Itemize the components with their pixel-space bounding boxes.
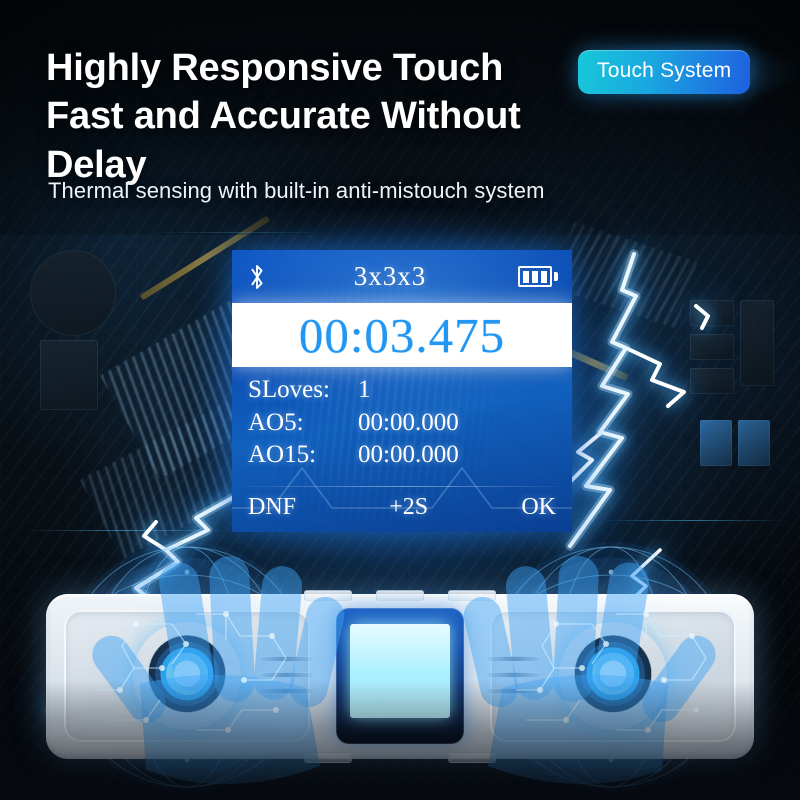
page-title: Highly Responsive Touch Fast and Accurat… [46,44,606,189]
stats-value: 1 [358,374,560,407]
device-clip [376,590,424,601]
stats-label: AO15: [248,439,358,472]
headline-line-2: Fast and Accurate Without Delay [46,92,606,189]
battery-segment [523,271,529,283]
battery-segment [532,271,538,283]
promo-banner: Highly Responsive Touch Fast and Accurat… [0,0,800,800]
ok-button[interactable]: OK [521,494,556,521]
vent-line [488,672,540,677]
stats-value: 00:00.000 [358,439,560,472]
battery-icon [518,266,558,287]
battery-segment [541,271,547,283]
bottom-scrim [0,680,800,800]
timer-screen: 3x3x3 00:03.475 SLoves: 1 AO5: 00:0 [232,250,572,532]
battery-body [518,266,552,287]
main-time-display: 00:03.475 [232,303,572,367]
touch-system-badge: Touch System [578,50,750,94]
stats-row: AO15: 00:00.000 [248,439,560,472]
screen-divider [232,486,572,487]
screen-action-bar: DNF +2S OK [248,494,556,521]
vent-line [488,656,540,661]
stats-row: AO5: 00:00.000 [248,407,560,440]
main-time-value: 00:03.475 [299,311,505,360]
screen-status-bar: 3x3x3 [232,250,572,303]
headline-line-1: Highly Responsive Touch [46,47,503,89]
page-subtitle: Thermal sensing with built-in anti-misto… [48,178,545,204]
plus-two-button[interactable]: +2S [389,494,428,521]
battery-nub [554,272,558,281]
stats-row: SLoves: 1 [248,374,560,407]
device-clip [448,590,496,601]
device-clip [304,590,352,601]
bluetooth-icon [246,262,268,292]
stats-label: SLoves: [248,374,358,407]
stats-list: SLoves: 1 AO5: 00:00.000 AO15: 00:00.000 [248,374,560,472]
stats-value: 00:00.000 [358,407,560,440]
vent-line [260,656,312,661]
vent-line [260,672,312,677]
cube-mode-label: 3x3x3 [268,261,518,292]
dnf-button[interactable]: DNF [248,494,296,521]
stats-label: AO5: [248,407,358,440]
